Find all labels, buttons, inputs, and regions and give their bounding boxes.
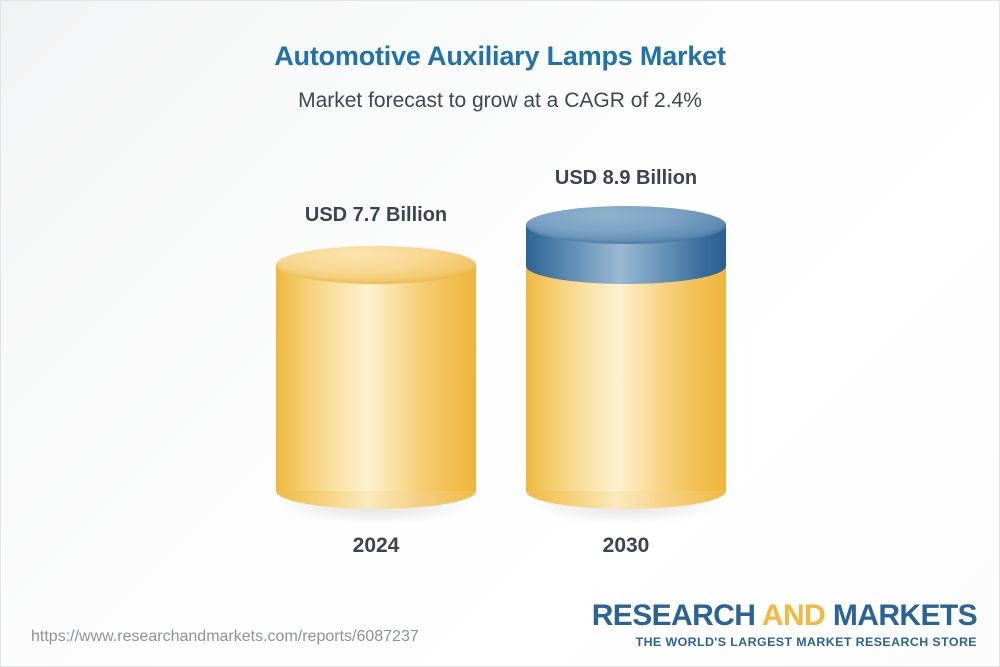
bar-category-label-2030: 2030: [526, 534, 726, 558]
report-url[interactable]: https://www.researchandmarkets.com/repor…: [31, 628, 419, 646]
bar-segment-base-2030: [526, 246, 726, 509]
bar-chart: USD 7.7 Billion 2024 USD 8.9 Billion: [1, 1, 1000, 667]
bar-segment-base-2024: [276, 246, 476, 509]
bar-value-label-2024: USD 7.7 Billion: [276, 204, 476, 227]
brand-logo-wordmark: RESEARCH AND MARKETS: [592, 601, 977, 632]
bar-value-label-2030: USD 8.9 Billion: [526, 167, 726, 190]
cylinder-2030: [526, 206, 726, 511]
brand-logo-markets: MARKETS: [825, 599, 977, 632]
bar-category-label-2024: 2024: [276, 534, 476, 558]
bar-segment-growth-2030: [526, 206, 726, 284]
infographic-canvas: Automotive Auxiliary Lamps Market Market…: [0, 0, 1000, 667]
brand-logo-and: AND: [762, 599, 825, 632]
bar-column-2030: USD 8.9 Billion 2: [526, 141, 726, 571]
segment-top-cap: [526, 206, 726, 244]
segment-side-wall-lower: [526, 264, 726, 491]
brand-tagline: THE WORLD'S LARGEST MARKET RESEARCH STOR…: [592, 635, 977, 649]
bar-column-2024: USD 7.7 Billion 2024: [276, 141, 476, 571]
segment-top-cap: [276, 246, 476, 284]
brand-logo-research: RESEARCH: [592, 599, 762, 632]
brand-logo[interactable]: RESEARCH AND MARKETS THE WORLD'S LARGEST…: [592, 601, 977, 649]
segment-side-wall-lower: [276, 264, 476, 491]
cylinder-2024: [276, 246, 476, 511]
